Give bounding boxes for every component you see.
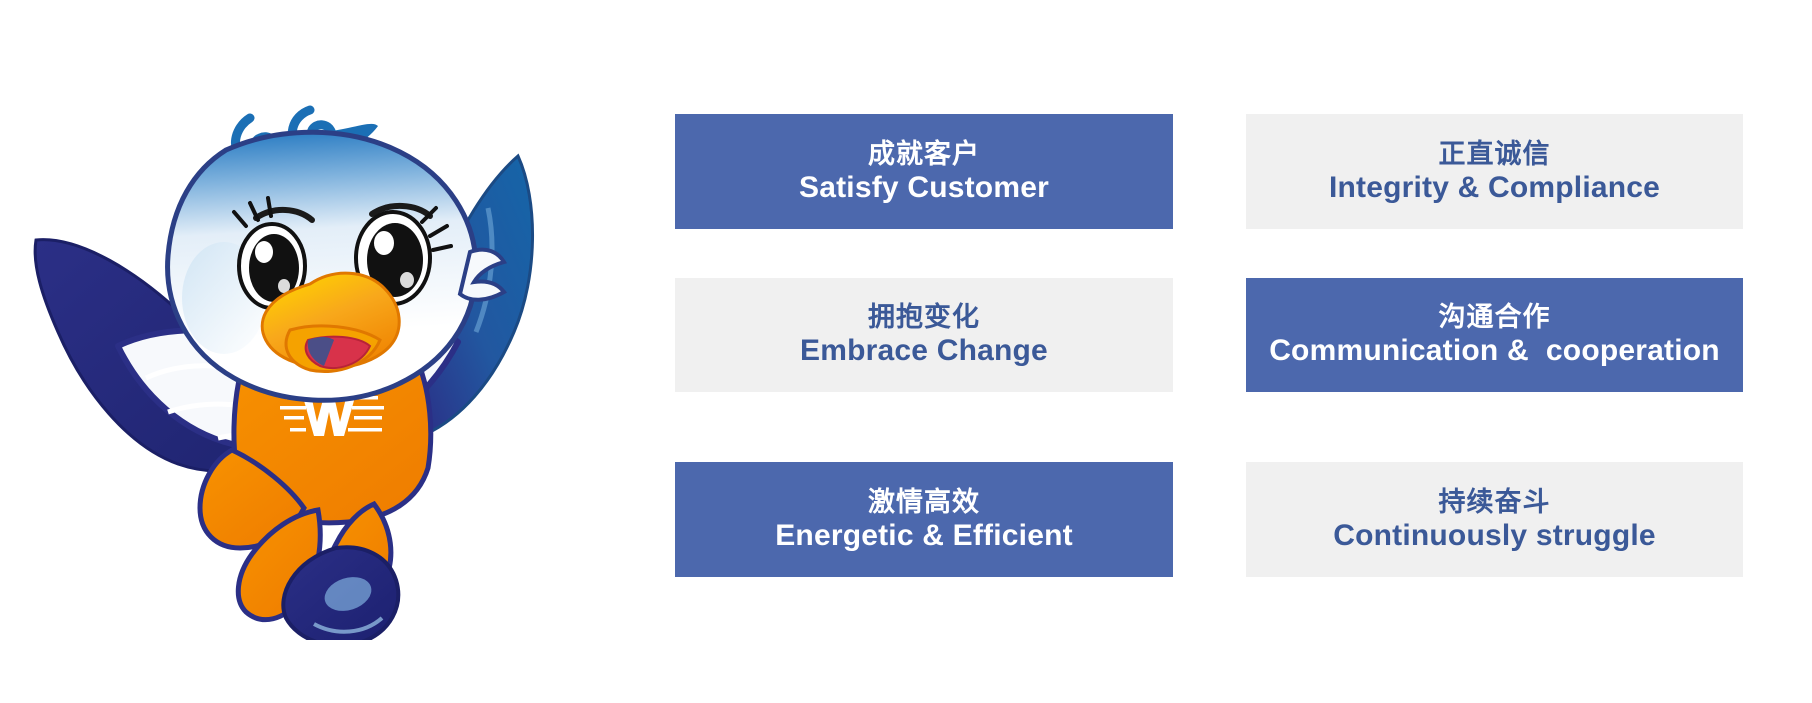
value-card-title-cn: 激情高效 — [868, 487, 980, 517]
value-card-title-cn: 持续奋斗 — [1439, 487, 1551, 517]
value-card-title-cn: 正直诚信 — [1439, 139, 1551, 169]
value-card-energetic-efficient[interactable]: 激情高效 Energetic & Efficient — [675, 462, 1173, 577]
mascot-illustration — [18, 40, 638, 640]
core-values-grid: 成就客户 Satisfy Customer 正直诚信 Integrity & C… — [675, 114, 1743, 577]
value-card-title-en: Communication & cooperation — [1269, 334, 1720, 368]
value-card-communication-cooperation[interactable]: 沟通合作 Communication & cooperation — [1246, 278, 1743, 392]
value-card-title-cn: 成就客户 — [868, 139, 980, 169]
value-card-satisfy-customer[interactable]: 成就客户 Satisfy Customer — [675, 114, 1173, 229]
value-card-title-en: Integrity & Compliance — [1329, 171, 1660, 205]
value-card-embrace-change[interactable]: 拥抱变化 Embrace Change — [675, 278, 1173, 392]
value-card-integrity-compliance[interactable]: 正直诚信 Integrity & Compliance — [1246, 114, 1743, 229]
value-card-title-en: Satisfy Customer — [799, 171, 1049, 205]
value-card-continuously-struggle[interactable]: 持续奋斗 Continuously struggle — [1246, 462, 1743, 577]
value-card-title-en: Embrace Change — [800, 334, 1048, 368]
value-card-title-en: Continuously struggle — [1333, 519, 1656, 553]
value-card-title-en: Energetic & Efficient — [775, 519, 1073, 553]
bird-mascot-svg — [18, 40, 638, 640]
value-card-title-cn: 拥抱变化 — [868, 302, 980, 332]
value-card-title-cn: 沟通合作 — [1439, 302, 1551, 332]
